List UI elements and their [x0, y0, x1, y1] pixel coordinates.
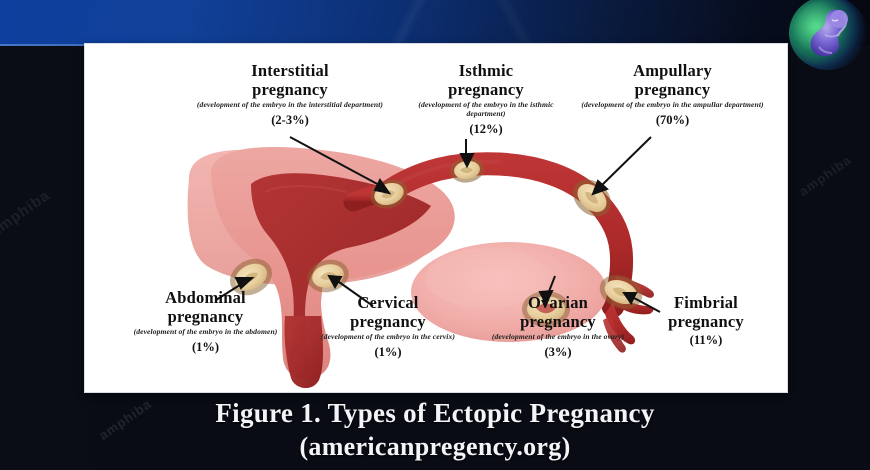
- label-ampullary-percent: (70%): [580, 113, 765, 127]
- label-isthmic-pregnancy: Isthmic pregnancy (development of the em…: [401, 62, 571, 136]
- label-ovarian-detail: (development of the embryo in the ovary): [482, 332, 634, 341]
- label-isthmic-line2: pregnancy: [448, 80, 524, 99]
- label-fimbrial-pregnancy: Fimbrial pregnancy (11%): [630, 294, 782, 347]
- figure-panel: Interstitial pregnancy (development of t…: [85, 44, 787, 392]
- label-ampullary-line1: Ampullary: [633, 61, 712, 80]
- label-abdominal-pregnancy: Abdominal pregnancy (development of the …: [123, 289, 288, 354]
- label-fimbrial-line1: Fimbrial: [674, 293, 738, 312]
- label-cervical-detail: (development of the embryo in the cervix…: [307, 332, 469, 341]
- label-interstitial-pregnancy: Interstitial pregnancy (development of t…: [195, 62, 385, 127]
- figure-caption-line2: (americanpregency.org): [0, 430, 870, 464]
- label-ampullary-detail: (development of the embryo in the ampull…: [580, 100, 765, 109]
- label-abdominal-line1: Abdominal: [165, 288, 246, 307]
- label-interstitial-line1: Interstitial: [251, 61, 329, 80]
- figure-caption: Figure 1. Types of Ectopic Pregnancy (am…: [0, 396, 870, 464]
- label-isthmic-percent: (12%): [401, 122, 571, 136]
- label-fimbrial-percent: (11%): [630, 333, 782, 347]
- label-abdominal-line2: pregnancy: [168, 307, 244, 326]
- label-interstitial-detail: (development of the embryo in the inters…: [195, 100, 385, 109]
- label-isthmic-line1: Isthmic: [459, 61, 514, 80]
- label-cervical-pregnancy: Cervical pregnancy (development of the e…: [307, 294, 469, 359]
- label-ampullary-pregnancy: Ampullary pregnancy (development of the …: [580, 62, 765, 127]
- label-ovarian-percent: (3%): [482, 345, 634, 359]
- watermark-right: amphiba: [796, 152, 854, 199]
- label-cervical-percent: (1%): [307, 345, 469, 359]
- fetus-icon: [789, 0, 867, 70]
- label-fimbrial-line2: pregnancy: [668, 312, 744, 331]
- figure-caption-line1: Figure 1. Types of Ectopic Pregnancy: [0, 396, 870, 430]
- label-ovarian-line1: Ovarian: [528, 293, 588, 312]
- label-interstitial-line2: pregnancy: [252, 80, 328, 99]
- label-ovarian-line2: pregnancy: [520, 312, 596, 331]
- label-ampullary-line2: pregnancy: [635, 80, 711, 99]
- fetus-in-orb-logo: [789, 0, 867, 70]
- label-interstitial-percent: (2-3%): [195, 113, 385, 127]
- arrow-ampullary: [593, 137, 651, 194]
- label-cervical-line1: Cervical: [357, 293, 418, 312]
- slide-header-band: [0, 0, 870, 46]
- label-isthmic-detail: (development of the embryo in the isthmi…: [401, 100, 571, 118]
- label-cervical-line2: pregnancy: [350, 312, 426, 331]
- label-abdominal-detail: (development of the embryo in the abdome…: [123, 327, 288, 336]
- slide: amphiba amphiba amphiba: [0, 0, 870, 470]
- label-abdominal-percent: (1%): [123, 340, 288, 354]
- label-ovarian-pregnancy: Ovarian pregnancy (development of the em…: [482, 294, 634, 359]
